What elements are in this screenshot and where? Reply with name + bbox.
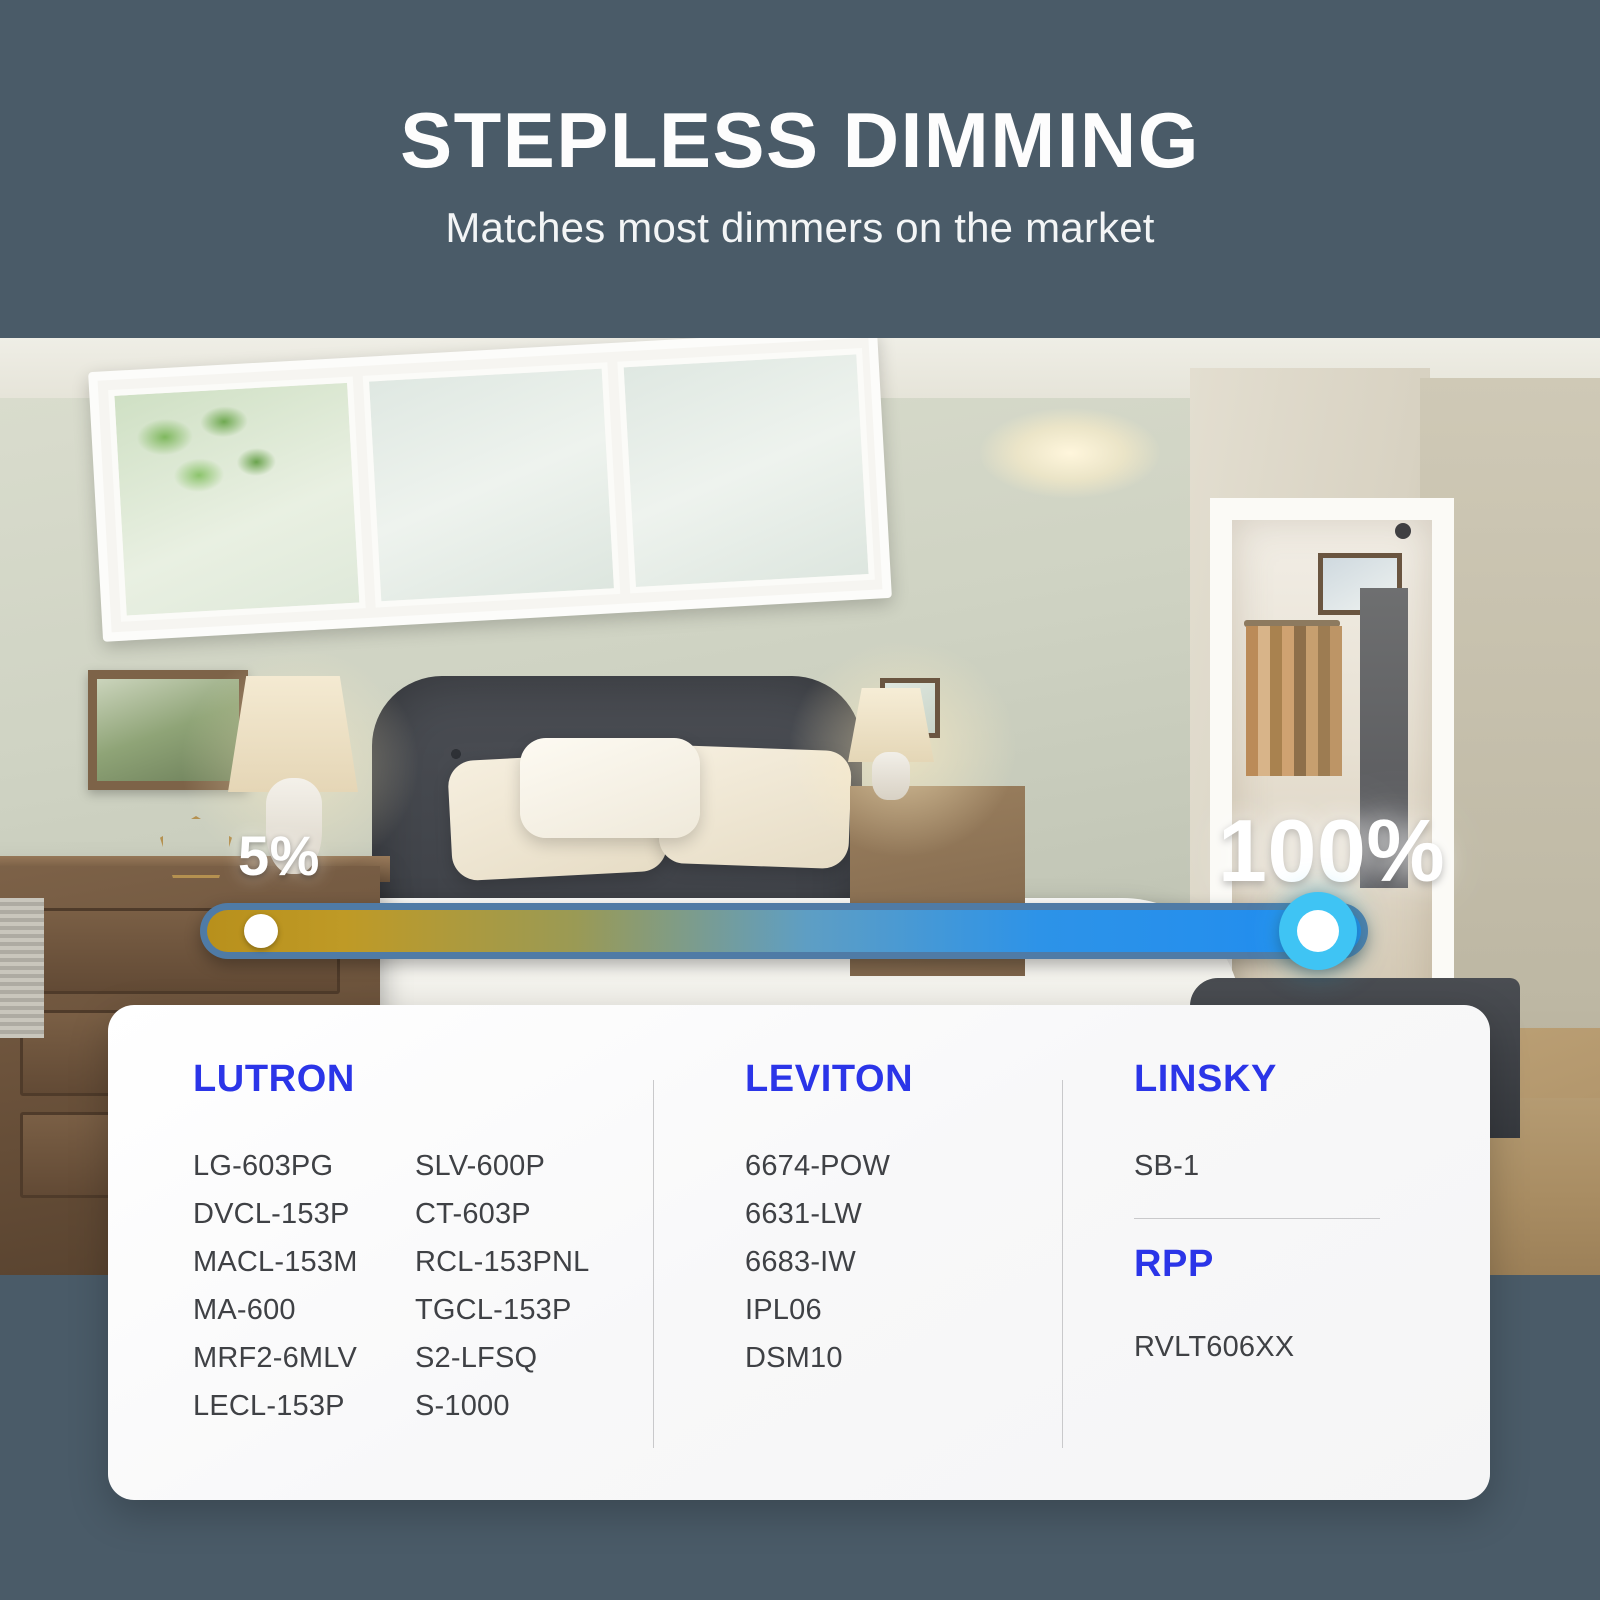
list-item: 6674-POW [745, 1142, 1062, 1190]
foliage [133, 400, 289, 528]
list-item: IPL06 [745, 1286, 1062, 1334]
lamp-base-right [872, 752, 910, 800]
list-item: TGCL-153P [415, 1286, 589, 1334]
compatible-dimmers-card: LUTRON LG-603PG DVCL-153P MACL-153M MA-6… [108, 1005, 1490, 1500]
brand-title-lutron: LUTRON [193, 1060, 653, 1098]
slider-handle-max-core [1297, 910, 1339, 952]
list-item: DVCL-153P [193, 1190, 415, 1238]
slider-max-label: 100% [1218, 800, 1445, 902]
list-item: CT-603P [415, 1190, 589, 1238]
model-list-leviton: 6674-POW 6631-LW 6683-IW IPL06 DSM10 [745, 1142, 1062, 1382]
pillow [520, 738, 700, 838]
slider-min-label: 5% [238, 823, 320, 888]
slider-handle-max[interactable] [1279, 892, 1357, 970]
lamp-shade-right [848, 688, 934, 762]
brand-title-leviton: LEVITON [745, 1060, 1062, 1098]
list-item: RCL-153PNL [415, 1238, 589, 1286]
window-pane [617, 348, 875, 593]
list-item: DSM10 [745, 1334, 1062, 1382]
model-list-lutron-left: LG-603PG DVCL-153P MACL-153M MA-600 MRF2… [193, 1142, 415, 1430]
section-divider [1134, 1218, 1380, 1219]
window-pane [108, 376, 366, 621]
brand-title-linsky: LINSKY [1134, 1060, 1490, 1098]
dimming-slider[interactable] [200, 903, 1368, 959]
wall-vent [0, 898, 44, 1038]
brand-title-rpp: RPP [1134, 1245, 1490, 1283]
list-item: S2-LFSQ [415, 1334, 589, 1382]
header-banner: STEPLESS DIMMING Matches most dimmers on… [0, 0, 1600, 338]
list-item: LECL-153P [193, 1382, 415, 1430]
window [88, 338, 892, 642]
brand-column-linsky: LINSKY SB-1 RPP RVLT606XX [1062, 1005, 1490, 1500]
model-list-lutron-right: SLV-600P CT-603P RCL-153PNL TGCL-153P S2… [415, 1142, 589, 1430]
list-item: MACL-153M [193, 1238, 415, 1286]
brand-column-lutron: LUTRON LG-603PG DVCL-153P MACL-153M MA-6… [108, 1005, 653, 1500]
list-item: SB-1 [1134, 1142, 1490, 1190]
list-item: RVLT606XX [1134, 1323, 1490, 1371]
list-item: 6631-LW [745, 1190, 1062, 1238]
ceiling-light-glow-icon [980, 408, 1160, 498]
window-pane [363, 362, 621, 607]
slider-track-fill [207, 910, 1361, 952]
list-item: 6683-IW [745, 1238, 1062, 1286]
list-item: LG-603PG [193, 1142, 415, 1190]
model-list-linsky: SB-1 [1134, 1142, 1490, 1190]
lamp-shade-left [228, 676, 358, 792]
list-item: S-1000 [415, 1382, 589, 1430]
brand-column-leviton: LEVITON 6674-POW 6631-LW 6683-IW IPL06 D… [653, 1005, 1062, 1500]
page-title: STEPLESS DIMMING [400, 100, 1200, 182]
list-item: MA-600 [193, 1286, 415, 1334]
list-item: MRF2-6MLV [193, 1334, 415, 1382]
list-item: SLV-600P [415, 1142, 589, 1190]
slider-handle-min[interactable] [244, 914, 278, 948]
model-list-rpp: RVLT606XX [1134, 1323, 1490, 1371]
page-subtitle: Matches most dimmers on the market [445, 204, 1154, 252]
